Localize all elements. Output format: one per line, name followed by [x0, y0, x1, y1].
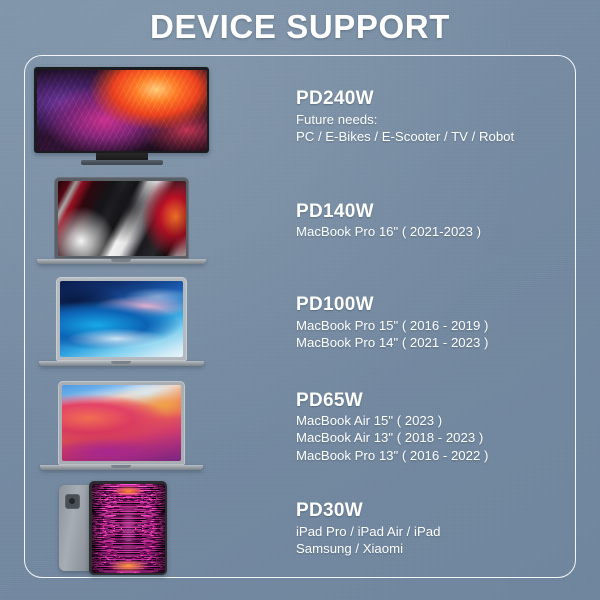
wattage-label: PD140W: [296, 201, 576, 223]
tv-icon: [34, 67, 209, 167]
wattage-label: PD240W: [296, 88, 576, 110]
camera-icon: [65, 494, 80, 509]
device-image-macbook-air: [24, 375, 294, 479]
macbook-air-icon: [34, 377, 209, 473]
tv-screen: [37, 70, 207, 151]
device-desc-line: MacBook Air 13" ( 2018 - 2023 ): [296, 429, 576, 446]
wattage-label: PD65W: [296, 390, 576, 412]
macbook-pro-16-icon: [34, 173, 209, 269]
device-desc-line: MacBook Pro 14" ( 2021 - 2023 ): [296, 334, 576, 351]
device-desc-line: MacBook Air 15" ( 2023 ): [296, 412, 576, 429]
laptop-screen: [60, 281, 183, 357]
laptop-wallpaper: [60, 281, 183, 357]
device-desc-line: MacBook Pro 13" ( 2016 - 2022 ): [296, 447, 576, 464]
laptop-lid: [58, 381, 185, 465]
device-desc-line: Future needs:: [296, 111, 576, 128]
device-support-list: PD240W Future needs: PC / E-Bikes / E-Sc…: [24, 55, 576, 578]
wattage-label: PD30W: [296, 500, 576, 522]
device-image-macbook-pro-15: [24, 271, 294, 375]
device-text-block: PD240W Future needs: PC / E-Bikes / E-Sc…: [294, 88, 576, 145]
list-item: PD240W Future needs: PC / E-Bikes / E-Sc…: [24, 63, 576, 171]
device-desc-line: Samsung / Xiaomi: [296, 540, 576, 557]
wattage-label: PD100W: [296, 294, 576, 316]
laptop-wallpaper: [62, 385, 181, 461]
device-image-macbook-pro-16: [24, 171, 294, 271]
laptop-screen: [58, 181, 186, 256]
laptop-wallpaper: [58, 181, 186, 256]
laptop-lid: [56, 277, 187, 361]
laptop-trackpad-notch: [111, 465, 131, 468]
device-image-tv: [24, 63, 294, 171]
device-desc-line: iPad Pro / iPad Air / iPad: [296, 523, 576, 540]
list-item: PD65W MacBook Air 15" ( 2023 ) MacBook A…: [24, 375, 576, 479]
device-image-ipad: [24, 479, 294, 579]
tv-bezel: [34, 67, 209, 153]
device-desc-line: MacBook Pro 15" ( 2016 - 2019 ): [296, 317, 576, 334]
tv-wallpaper: [37, 70, 207, 151]
macbook-pro-15-icon: [34, 273, 209, 369]
tv-stand-base: [81, 160, 163, 165]
ipad-screen: [92, 484, 165, 573]
device-text-block: PD140W MacBook Pro 16" ( 2021-2023 ): [294, 201, 576, 241]
device-desc-line: PC / E-Bikes / E-Scooter / TV / Robot: [296, 128, 576, 145]
device-desc-line: MacBook Pro 16" ( 2021-2023 ): [296, 223, 576, 240]
list-item: PD30W iPad Pro / iPad Air / iPad Samsung…: [24, 479, 576, 579]
device-text-block: PD100W MacBook Pro 15" ( 2016 - 2019 ) M…: [294, 294, 576, 351]
ipad-pro-icon: [59, 481, 171, 577]
laptop-lid: [54, 177, 189, 259]
device-text-block: PD30W iPad Pro / iPad Air / iPad Samsung…: [294, 500, 576, 557]
list-item: PD100W MacBook Pro 15" ( 2016 - 2019 ) M…: [24, 271, 576, 375]
list-item: PD140W MacBook Pro 16" ( 2021-2023 ): [24, 171, 576, 271]
laptop-trackpad-notch: [111, 361, 131, 364]
ipad-bezel: [89, 481, 167, 575]
laptop-screen: [62, 385, 181, 461]
device-text-block: PD65W MacBook Air 15" ( 2023 ) MacBook A…: [294, 390, 576, 465]
ipad-wallpaper: [92, 484, 165, 573]
page-title: DEVICE SUPPORT: [0, 8, 600, 46]
laptop-trackpad-notch: [111, 259, 131, 262]
